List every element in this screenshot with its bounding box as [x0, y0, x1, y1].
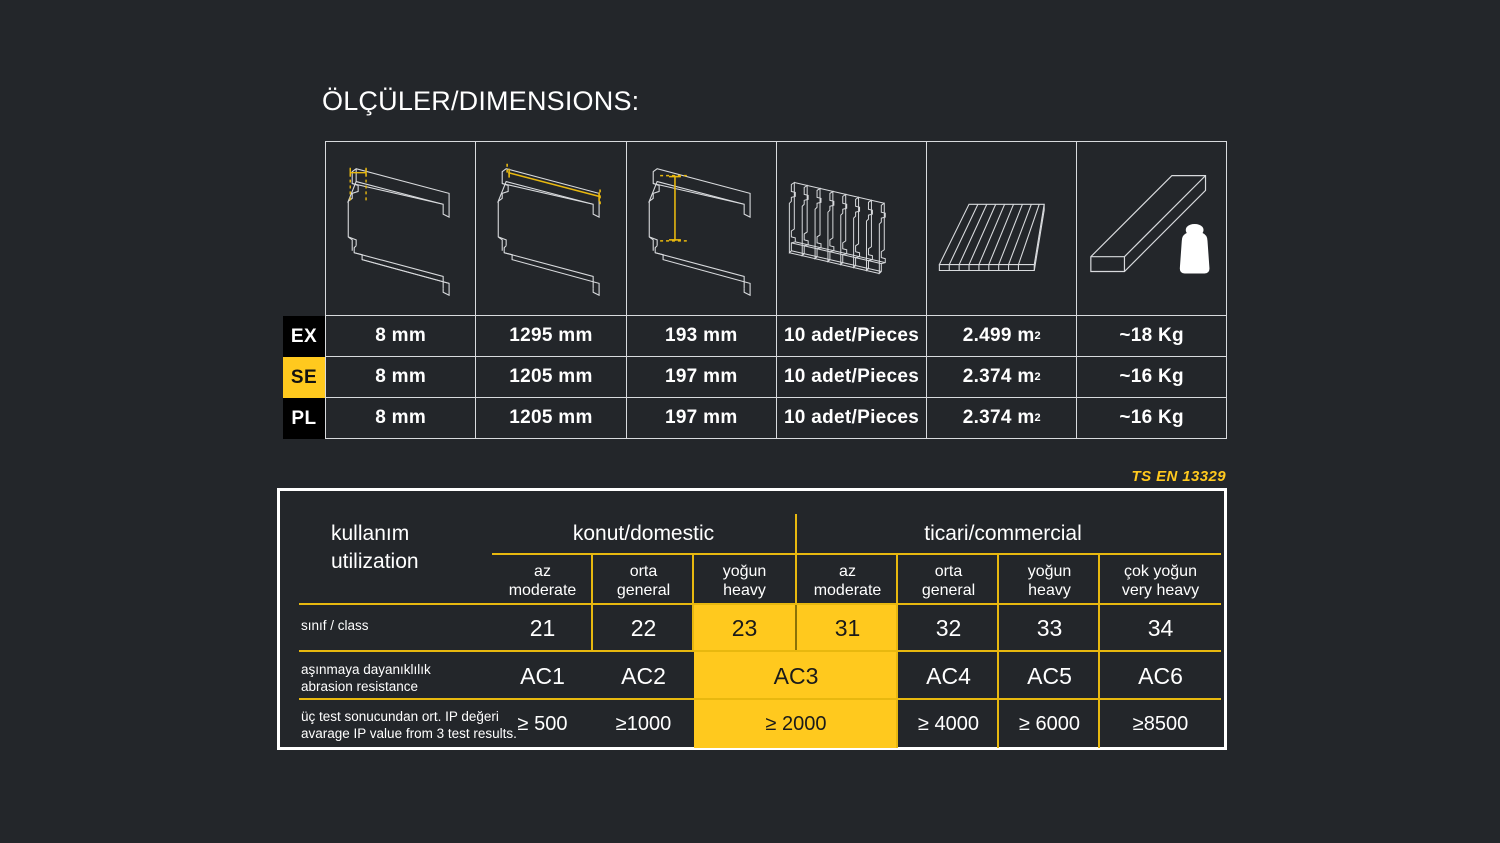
- cell-area-value: 2.374 m: [963, 407, 1035, 429]
- group-header-domestic: konut/domestic: [492, 518, 795, 550]
- table-row: PL 8 mm 1205 mm 197 mm 10 adet/Pieces 2.…: [283, 398, 1227, 439]
- cell-weight: ~16 Kg: [1076, 357, 1226, 398]
- cell-ip-1000: ≥1000: [593, 700, 694, 748]
- utilization-class-table: kullanım utilization konut/domestic tica…: [277, 488, 1227, 750]
- illustration-row: [325, 141, 1227, 316]
- column-header-1: az moderate: [492, 559, 593, 603]
- cell-class-22: 22: [593, 605, 694, 652]
- cell-area: 2.374 m2: [926, 357, 1076, 398]
- cell-ip-2000-merged: ≥ 2000: [694, 700, 898, 748]
- cell-ac5: AC5: [999, 652, 1100, 700]
- row-label-ip-tr: üç test sonucundan ort. IP değeri: [301, 708, 517, 725]
- column-header-tr: az: [839, 562, 856, 581]
- cell-area-value: 2.374 m: [963, 366, 1035, 388]
- cell-class-32: 32: [898, 605, 999, 652]
- row-label-ip-en: avarage IP value from 3 test results.: [301, 725, 517, 742]
- group-header-commercial: ticari/commercial: [797, 518, 1209, 550]
- column-header-en: moderate: [814, 581, 882, 600]
- cell-height: 197 mm: [626, 357, 776, 398]
- column-header-tr: az: [534, 562, 551, 581]
- table-row: EX 8 mm 1295 mm 193 mm 10 adet/Pieces 2.…: [283, 316, 1227, 357]
- cell-class-21: 21: [492, 605, 593, 652]
- profile-height-diagram: [626, 141, 776, 316]
- row-label-abrasion: aşınmaya dayanıklılık abrasion resistanc…: [301, 661, 431, 695]
- cell-height: 197 mm: [626, 398, 776, 439]
- column-header-7: çok yoğun very heavy: [1100, 559, 1221, 603]
- cell-weight: ~16 Kg: [1076, 398, 1226, 439]
- cell-ac1: AC1: [492, 652, 593, 700]
- cell-area-superscript: 2: [1035, 412, 1041, 424]
- page-title: ÖLÇÜLER/DIMENSIONS:: [322, 86, 639, 117]
- cell-area-value: 2.499 m: [963, 325, 1035, 347]
- page-root: ÖLÇÜLER/DIMENSIONS:: [0, 0, 1500, 843]
- cell-ac3-merged: AC3: [694, 652, 898, 700]
- dimensions-table: EX 8 mm 1295 mm 193 mm 10 adet/Pieces 2.…: [283, 141, 1227, 439]
- cell-ip-500: ≥ 500: [492, 700, 593, 748]
- table-row: SE 8 mm 1205 mm 197 mm 10 adet/Pieces 2.…: [283, 357, 1227, 398]
- cell-ip-8500: ≥8500: [1100, 700, 1221, 748]
- cell-area: 2.499 m2: [926, 316, 1076, 357]
- row-label-class: sınıf / class: [301, 617, 369, 634]
- cell-pieces: 10 adet/Pieces: [776, 398, 926, 439]
- column-header-en: heavy: [723, 581, 766, 600]
- cell-class-31: 31: [797, 605, 898, 652]
- column-header-tr: orta: [630, 562, 658, 581]
- column-header-en: moderate: [509, 581, 577, 600]
- cell-thickness: 8 mm: [325, 316, 475, 357]
- row-label-abrasion-en: abrasion resistance: [301, 678, 431, 695]
- cell-ip-4000: ≥ 4000: [898, 700, 999, 748]
- column-header-tr: yoğun: [1028, 562, 1072, 581]
- standard-label: TS EN 13329: [1132, 468, 1226, 485]
- cell-area-superscript: 2: [1035, 330, 1041, 342]
- cell-class-34: 34: [1100, 605, 1221, 652]
- cell-ac4: AC4: [898, 652, 999, 700]
- cell-pieces: 10 adet/Pieces: [776, 316, 926, 357]
- row-label-abrasion-tr: aşınmaya dayanıklılık: [301, 661, 431, 678]
- cell-thickness: 8 mm: [325, 398, 475, 439]
- column-header-6: yoğun heavy: [999, 559, 1100, 603]
- column-header-en: general: [617, 581, 670, 600]
- cell-area-superscript: 2: [1035, 371, 1041, 383]
- column-header-en: heavy: [1028, 581, 1071, 600]
- cell-class-33: 33: [999, 605, 1100, 652]
- column-header-tr: orta: [935, 562, 963, 581]
- cell-height: 193 mm: [626, 316, 776, 357]
- column-header-tr: çok yoğun: [1124, 562, 1197, 581]
- row-label-ip: üç test sonucundan ort. IP değeri avarag…: [301, 708, 517, 742]
- profile-thickness-diagram: [325, 141, 475, 316]
- cell-ac2: AC2: [593, 652, 694, 700]
- profile-length-diagram: [475, 141, 625, 316]
- package-weight-diagram: [1076, 141, 1226, 316]
- coverage-area-diagram: [926, 141, 1076, 316]
- cell-length: 1295 mm: [475, 316, 625, 357]
- cell-thickness: 8 mm: [325, 357, 475, 398]
- cell-ip-6000: ≥ 6000: [999, 700, 1100, 748]
- cell-ac6: AC6: [1100, 652, 1221, 700]
- cell-area: 2.374 m2: [926, 398, 1076, 439]
- cell-length: 1205 mm: [475, 357, 625, 398]
- row-label-se: SE: [283, 357, 325, 398]
- grid-line-h1: [492, 553, 1221, 555]
- stacked-pieces-diagram: [776, 141, 926, 316]
- column-header-3: yoğun heavy: [694, 559, 795, 603]
- column-header-en: very heavy: [1122, 581, 1199, 600]
- cell-pieces: 10 adet/Pieces: [776, 357, 926, 398]
- row-label-ex: EX: [283, 316, 325, 357]
- cell-length: 1205 mm: [475, 398, 625, 439]
- cell-class-23: 23: [694, 605, 795, 652]
- column-header-4: az moderate: [797, 559, 898, 603]
- column-header-tr: yoğun: [723, 562, 767, 581]
- row-label-class-text: sınıf / class: [301, 617, 369, 634]
- row-label-pl: PL: [283, 398, 325, 439]
- column-header-en: general: [922, 581, 975, 600]
- column-header-2: orta general: [593, 559, 694, 603]
- column-header-5: orta general: [898, 559, 999, 603]
- cell-weight: ~18 Kg: [1076, 316, 1226, 357]
